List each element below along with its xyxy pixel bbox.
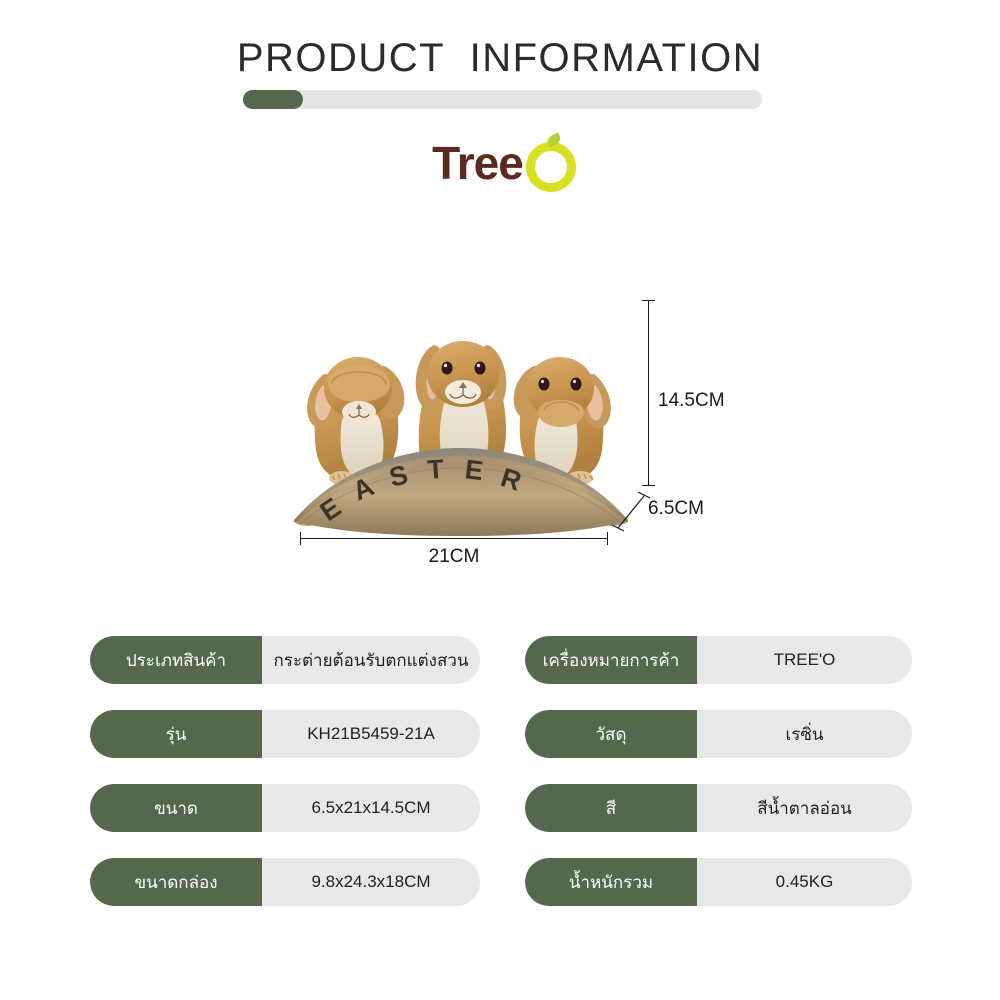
spec-label: ขนาดกล่อง: [90, 858, 262, 906]
spec-value: 6.5x21x14.5CM: [262, 784, 480, 832]
spec-value: KH21B5459-21A: [262, 710, 480, 758]
spec-label: น้ำหนักรวม: [525, 858, 697, 906]
spec-label: เครื่องหมายการค้า: [525, 636, 697, 684]
spec-table: ประเภทสินค้า กระต่ายต้อนรับตกแต่งสวน รุ่…: [0, 0, 1000, 1000]
table-row: น้ำหนักรวม 0.45KG: [525, 858, 912, 906]
spec-value: เรซิ่น: [697, 710, 912, 758]
table-row: ขนาดกล่อง 9.8x24.3x18CM: [90, 858, 480, 906]
spec-value: 9.8x24.3x18CM: [262, 858, 480, 906]
table-row: ขนาด 6.5x21x14.5CM: [90, 784, 480, 832]
table-row: สี สีน้ำตาลอ่อน: [525, 784, 912, 832]
table-row: วัสดุ เรซิ่น: [525, 710, 912, 758]
spec-label: ขนาด: [90, 784, 262, 832]
spec-label: ประเภทสินค้า: [90, 636, 262, 684]
spec-value: 0.45KG: [697, 858, 912, 906]
table-row: รุ่น KH21B5459-21A: [90, 710, 480, 758]
spec-label: สี: [525, 784, 697, 832]
spec-label: รุ่น: [90, 710, 262, 758]
spec-value: สีน้ำตาลอ่อน: [697, 784, 912, 832]
table-row: ประเภทสินค้า กระต่ายต้อนรับตกแต่งสวน: [90, 636, 480, 684]
spec-value: กระต่ายต้อนรับตกแต่งสวน: [262, 636, 480, 684]
spec-value: TREE'O: [697, 636, 912, 684]
table-row: เครื่องหมายการค้า TREE'O: [525, 636, 912, 684]
spec-label: วัสดุ: [525, 710, 697, 758]
